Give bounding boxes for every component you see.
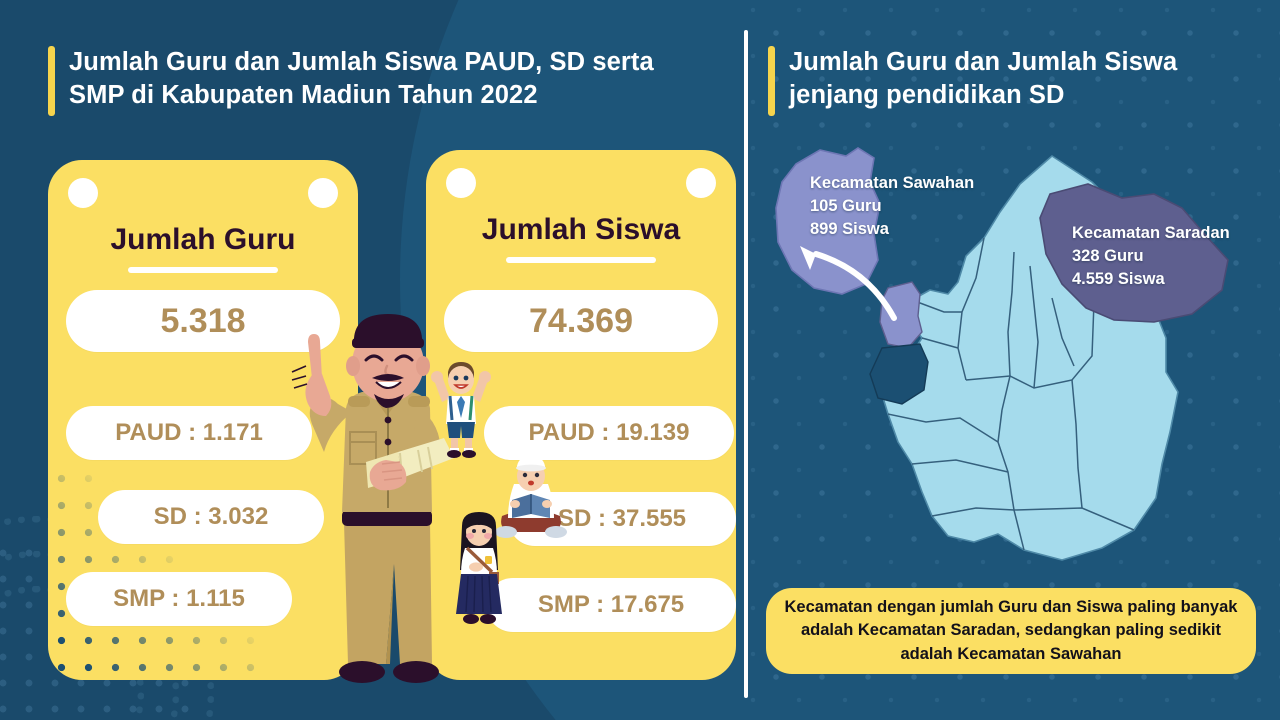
map-label-sawahan: Kecamatan Sawahan 105 Guru 899 Siswa [810,172,974,241]
sawahan-name: Kecamatan Sawahan [810,172,974,195]
sawahan-guru: 105 Guru [810,195,974,218]
saradan-guru: 328 Guru [1072,245,1230,268]
left-title: Jumlah Guru dan Jumlah Siswa PAUD, SD se… [69,46,708,112]
map-caption: Kecamatan dengan jumlah Guru dan Siswa p… [766,588,1256,674]
pin-hole-icon [68,178,98,208]
sawahan-siswa: 899 Siswa [810,218,974,241]
boy-student-illustration [428,358,494,458]
saradan-siswa: 4.559 Siswa [1072,268,1230,291]
pin-hole-icon [308,178,338,208]
map-label-saradan: Kecamatan Saradan 328 Guru 4.559 Siswa [1072,222,1230,291]
saradan-name: Kecamatan Saradan [1072,222,1230,245]
guru-smp-value: SMP : 1.115 [66,572,292,626]
infographic-canvas: Jumlah Guru dan Jumlah Siswa PAUD, SD se… [0,0,1280,720]
guru-paud-value: PAUD : 1.171 [66,406,312,460]
map-district-sawahan-inmap [880,282,922,348]
card-guru-title: Jumlah Guru [48,223,358,257]
card-siswa-title: Jumlah Siswa [426,213,736,247]
right-header: Jumlah Guru dan Jumlah Siswa jenjang pen… [768,46,1238,116]
girl-student-illustration [448,510,510,628]
pin-hole-icon [686,168,716,198]
pin-hole-icon [446,168,476,198]
siswa-smp-value: SMP : 17.675 [486,578,736,632]
title-underline [506,257,656,263]
vertical-divider [744,30,748,698]
accent-bar [768,46,775,116]
title-underline [128,267,278,273]
left-header: Jumlah Guru dan Jumlah Siswa PAUD, SD se… [48,46,708,116]
accent-bar [48,46,55,116]
right-title: Jumlah Guru dan Jumlah Siswa jenjang pen… [789,46,1238,112]
